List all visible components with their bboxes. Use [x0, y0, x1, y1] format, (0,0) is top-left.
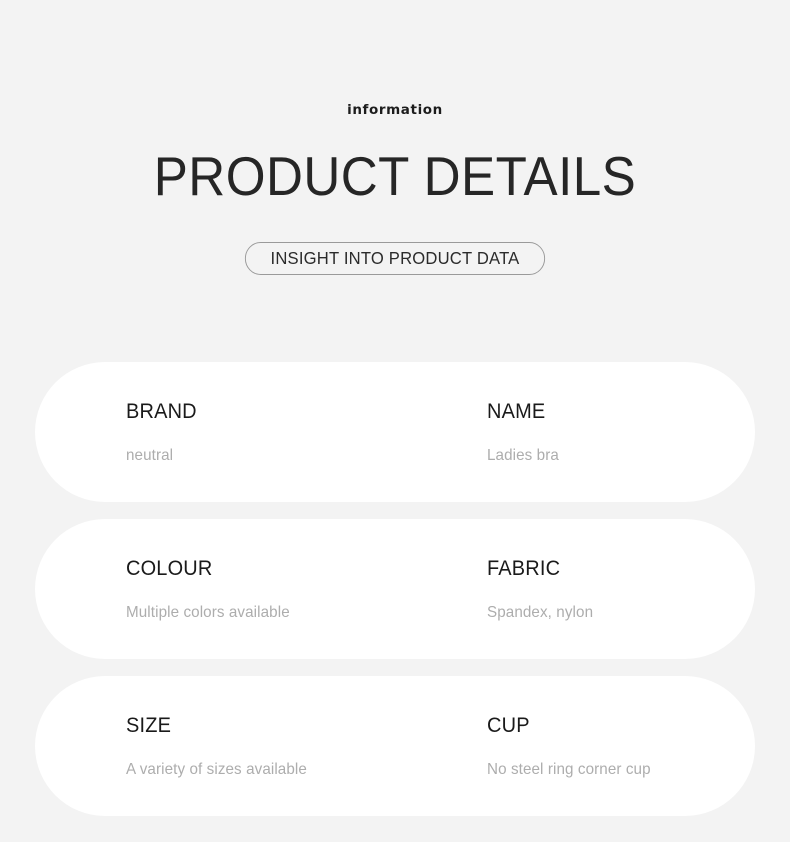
detail-field-label: SIZE — [126, 715, 469, 736]
insight-badge: INSIGHT INTO PRODUCT DATA — [245, 242, 545, 275]
detail-field-value: Ladies bra — [487, 448, 725, 464]
detail-field: NAME Ladies bra — [487, 401, 737, 464]
detail-field-label: CUP — [487, 715, 725, 736]
detail-field-value: A variety of sizes available — [126, 762, 469, 778]
detail-field-value: No steel ring corner cup — [487, 762, 725, 778]
page-title: PRODUCT DETAILS — [28, 118, 763, 204]
detail-field: COLOUR Multiple colors available — [126, 558, 487, 621]
detail-field-label: FABRIC — [487, 558, 725, 579]
detail-field-value: Multiple colors available — [126, 605, 469, 621]
detail-field-label: NAME — [487, 401, 725, 422]
detail-field: SIZE A variety of sizes available — [126, 715, 487, 778]
detail-field: FABRIC Spandex, nylon — [487, 558, 737, 621]
badge-container: INSIGHT INTO PRODUCT DATA — [0, 204, 790, 275]
detail-card: BRAND neutral NAME Ladies bra — [35, 362, 755, 502]
detail-card: COLOUR Multiple colors available FABRIC … — [35, 519, 755, 659]
detail-field-value: Spandex, nylon — [487, 605, 725, 621]
detail-card: SIZE A variety of sizes available CUP No… — [35, 676, 755, 816]
product-details-page: information PRODUCT DETAILS INSIGHT INTO… — [0, 0, 790, 842]
page-header: information PRODUCT DETAILS INSIGHT INTO… — [0, 0, 790, 275]
detail-field-value: neutral — [126, 448, 469, 464]
detail-field: BRAND neutral — [126, 401, 487, 464]
detail-cards-list: BRAND neutral NAME Ladies bra COLOUR Mul… — [35, 362, 755, 816]
eyebrow-label: information — [0, 104, 790, 118]
detail-card-columns: COLOUR Multiple colors available FABRIC … — [126, 519, 755, 659]
detail-card-columns: SIZE A variety of sizes available CUP No… — [126, 676, 755, 816]
detail-field-label: COLOUR — [126, 558, 469, 579]
detail-field-label: BRAND — [126, 401, 469, 422]
detail-field: CUP No steel ring corner cup — [487, 715, 737, 778]
detail-card-columns: BRAND neutral NAME Ladies bra — [126, 362, 755, 502]
